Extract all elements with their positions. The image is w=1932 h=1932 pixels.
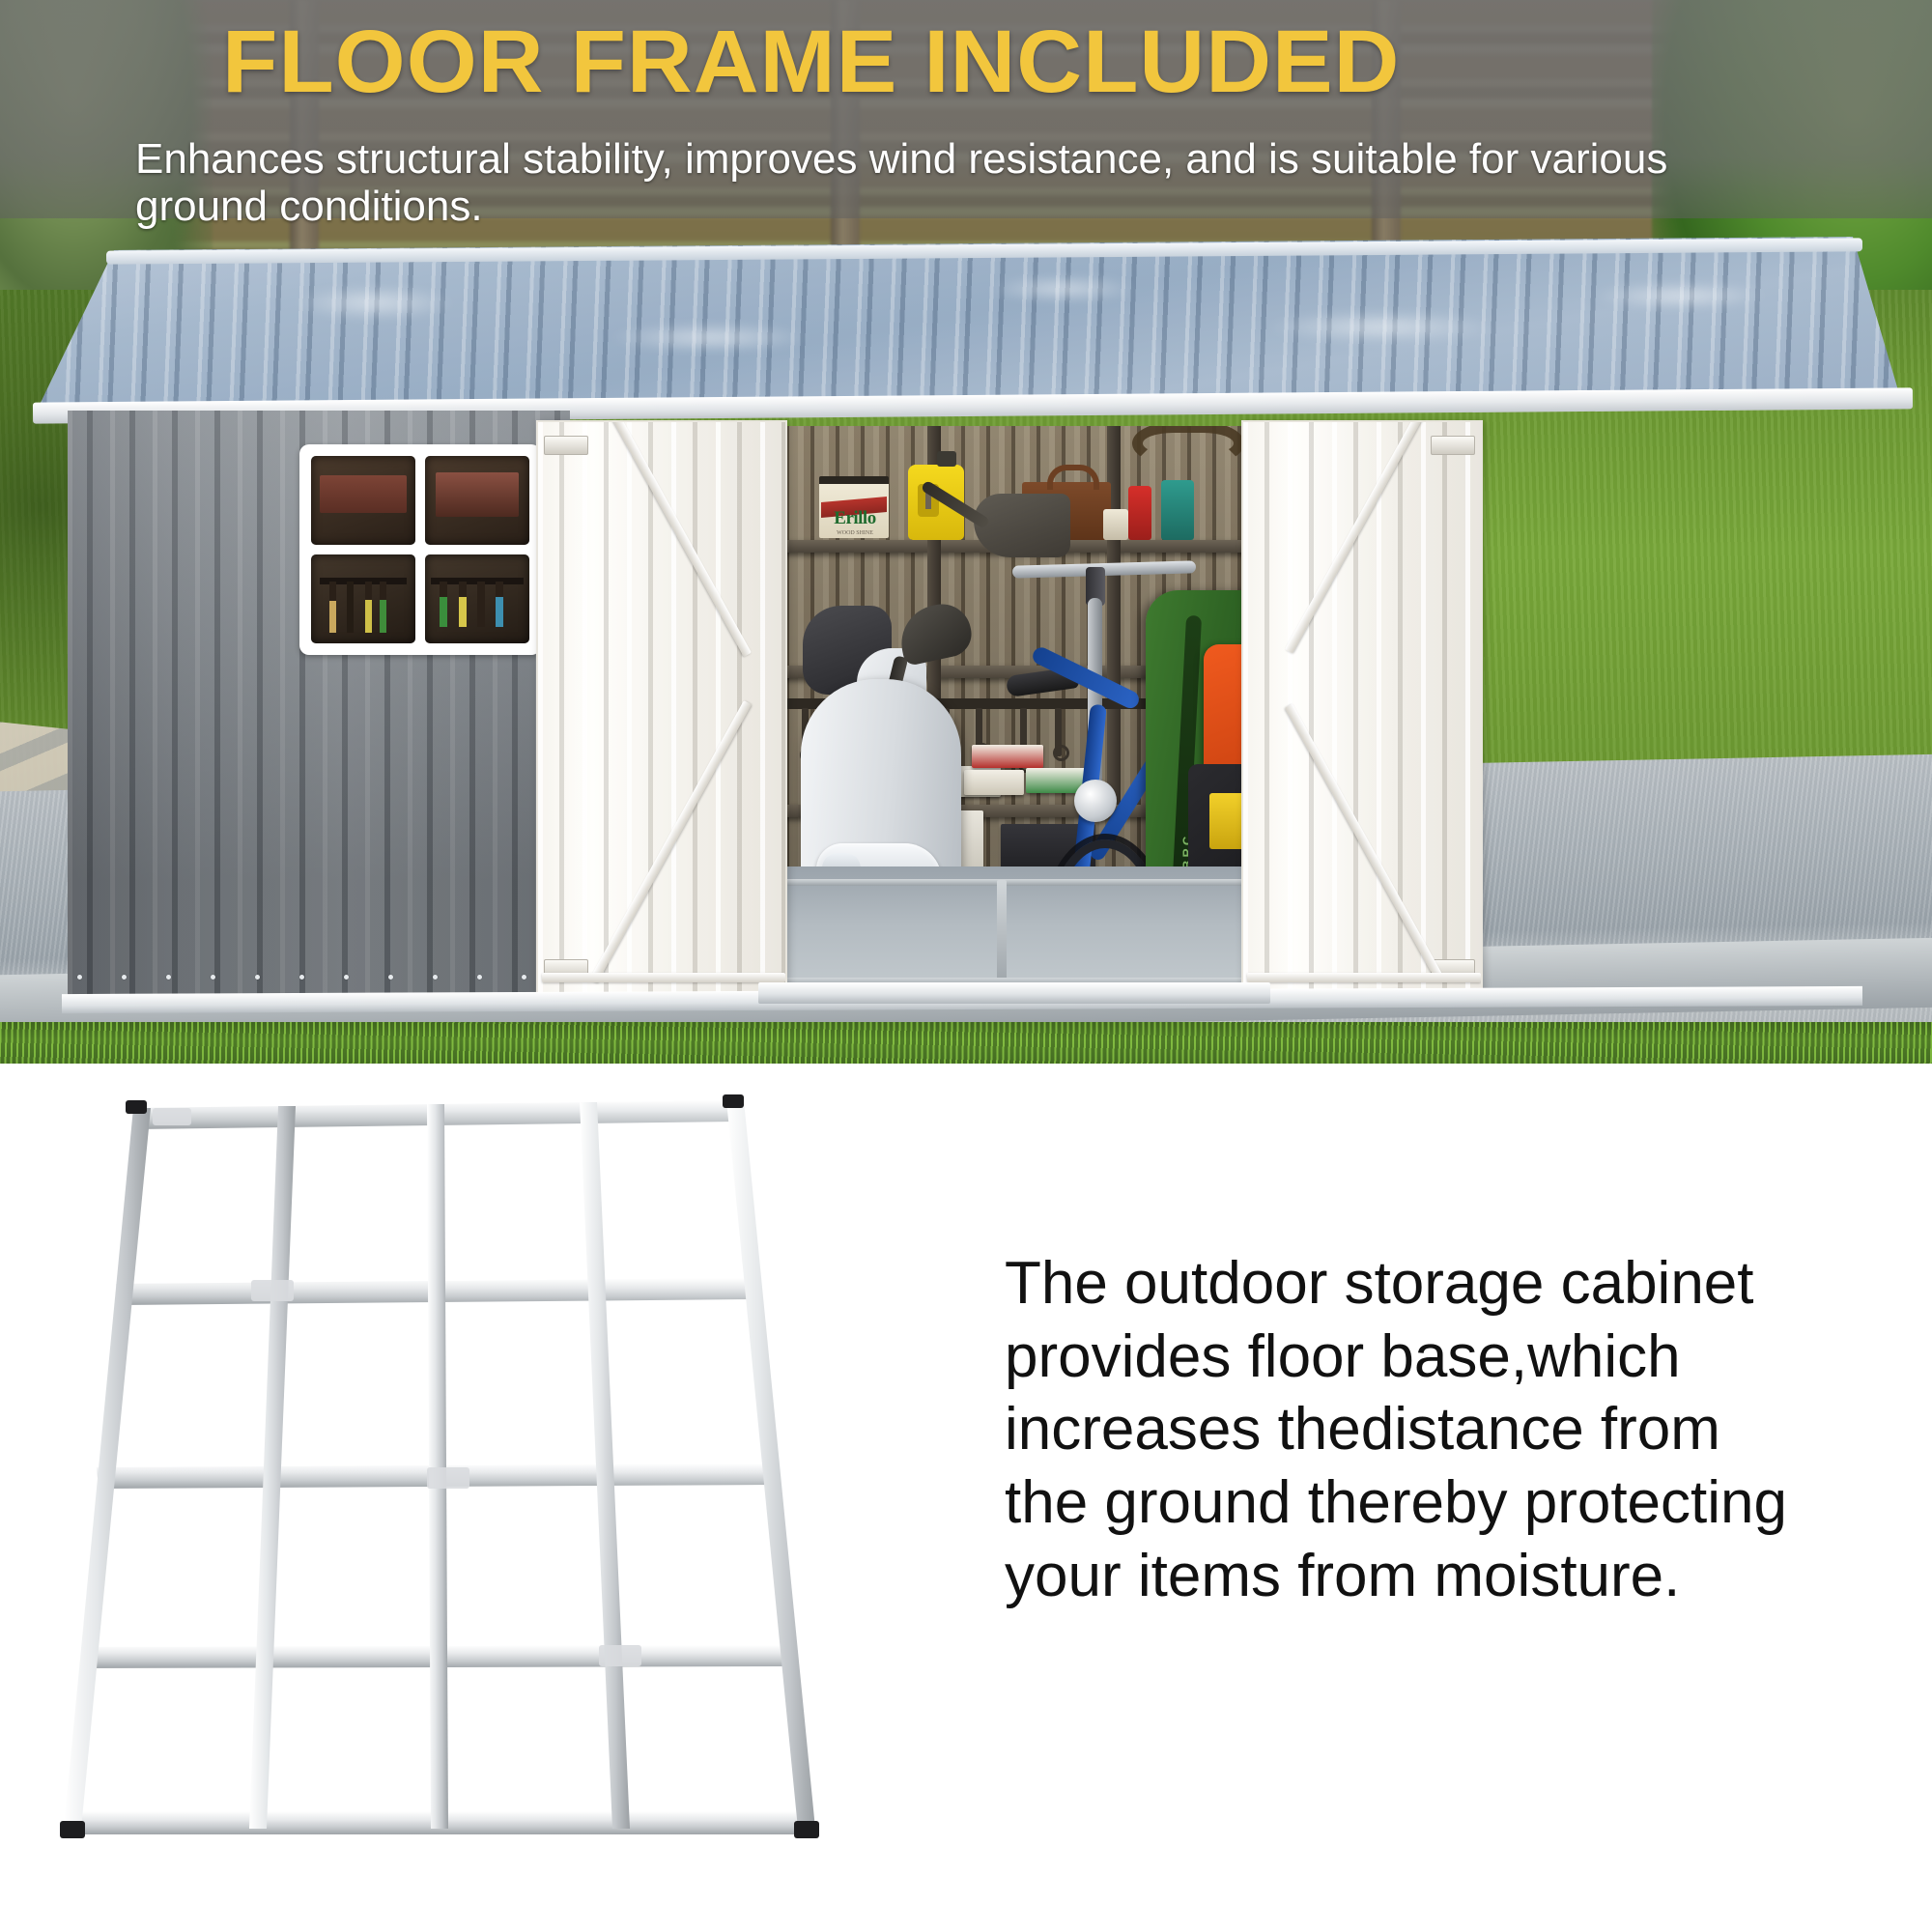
window-pane [311, 456, 415, 545]
teal-bottle [1161, 480, 1194, 540]
wreath [1132, 426, 1244, 465]
right-shed-door[interactable] [1241, 420, 1483, 996]
paragraph-line-5: your items from moisture. [1005, 1540, 1874, 1613]
window-pane [425, 554, 529, 643]
floor-frame-rail [773, 879, 1251, 886]
page-title: FLOOR FRAME INCLUDED [222, 17, 1759, 106]
door-threshold [758, 982, 1270, 1004]
watering-can [974, 494, 1070, 557]
paragraph-line-2: provides floor base,which [1005, 1321, 1874, 1394]
shed-window [299, 444, 541, 655]
white-jar [1103, 509, 1128, 540]
paragraph-line-3: increases thedistance from [1005, 1393, 1874, 1466]
wall-rivets [77, 975, 560, 982]
window-pane [425, 456, 529, 545]
erillo-box: Erillo WOOD SHINE [819, 476, 889, 538]
floor-frame-diagram [58, 1094, 947, 1887]
hero-photo: Erillo WOOD SHINE [0, 0, 1932, 1064]
product-feature-image: Erillo WOOD SHINE [0, 0, 1932, 1932]
window-pane [311, 554, 415, 643]
paragraph-line-1: The outdoor storage cabinet [1005, 1247, 1874, 1321]
page-subtitle: Enhances structural stability, improves … [135, 135, 1777, 231]
paragraph-line-4: the ground thereby protecting [1005, 1466, 1874, 1540]
floor-frame-svg [58, 1094, 947, 1887]
red-bottle [1128, 486, 1151, 540]
door-hinge [1431, 436, 1475, 455]
yellow-label [1209, 793, 1244, 849]
subtitle-line-1: Enhances structural stability, improves … [135, 135, 1519, 183]
storage-shed: Erillo WOOD SHINE [39, 237, 1903, 1009]
shed-doorway-interior: Erillo WOOD SHINE [773, 426, 1251, 994]
feature-paragraph: The outdoor storage cabinet provides flo… [1005, 1247, 1874, 1612]
left-shed-door[interactable] [536, 420, 787, 996]
grass-foreground [0, 1022, 1932, 1064]
door-hinge [544, 436, 588, 455]
bottom-info-section: The outdoor storage cabinet provides flo… [0, 1064, 1932, 1932]
